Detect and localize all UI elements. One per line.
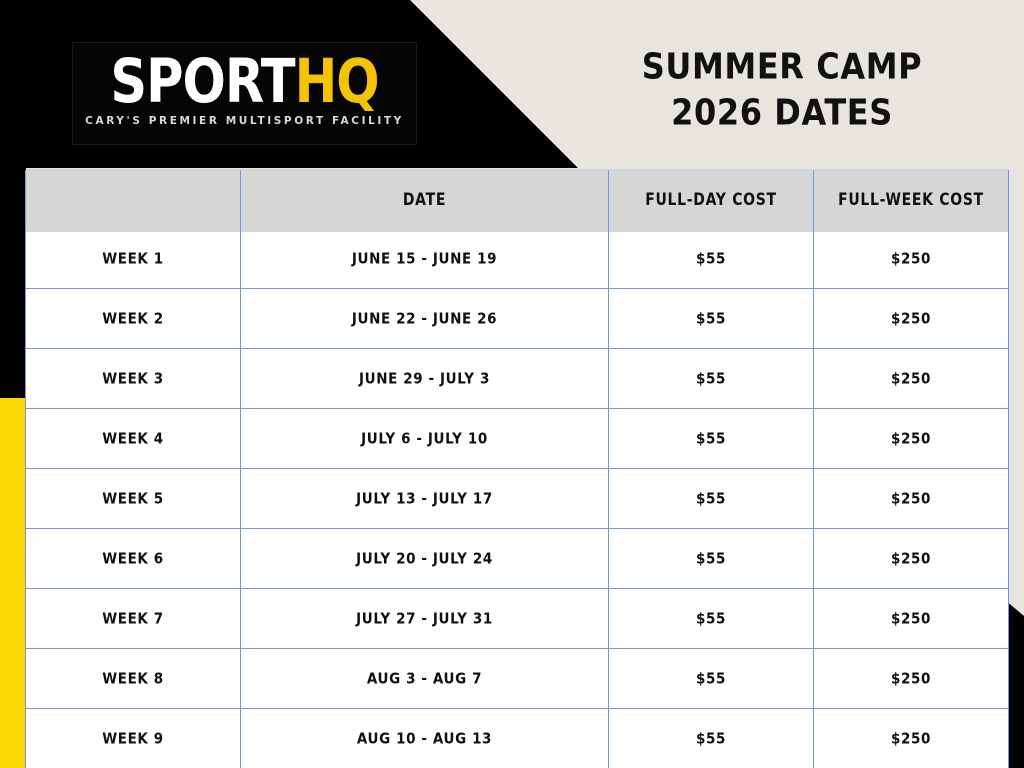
- full-week-cell: $250: [814, 349, 1009, 409]
- full-day-cell: $55: [609, 589, 814, 649]
- logo-hq-text: HQ: [295, 47, 379, 117]
- week-cell: WEEK 2: [26, 289, 241, 349]
- table-body: WEEK 1JUNE 15 - JUNE 19$55$250WEEK 2JUNE…: [26, 229, 1009, 768]
- full-week-cell: $250: [814, 409, 1009, 469]
- logo-wordmark: SPORTHQ: [110, 55, 378, 110]
- date-cell: JULY 20 - JULY 24: [241, 529, 609, 589]
- page-title-line-1: SUMMER CAMP: [572, 44, 992, 90]
- week-cell: WEEK 6: [26, 529, 241, 589]
- week-cell: WEEK 1: [26, 229, 241, 289]
- logo-tagline: CARY'S PREMIER MULTISPORT FACILITY: [85, 115, 404, 127]
- table-row: WEEK 3JUNE 29 - JULY 3$55$250: [26, 349, 1009, 409]
- full-day-cell: $55: [609, 349, 814, 409]
- yellow-bar-left: [0, 398, 26, 745]
- full-day-cell: $55: [609, 469, 814, 529]
- table-row: WEEK 2JUNE 22 - JUNE 26$55$250: [26, 289, 1009, 349]
- logo-sport-text: SPORT: [110, 47, 294, 117]
- schedule-table-container: DATE FULL-DAY COST FULL-WEEK COST WEEK 1…: [25, 170, 1004, 768]
- date-cell: JULY 6 - JULY 10: [241, 409, 609, 469]
- full-week-cell: $250: [814, 709, 1009, 768]
- table-row: WEEK 5JULY 13 - JULY 17$55$250: [26, 469, 1009, 529]
- table-row: WEEK 1JUNE 15 - JUNE 19$55$250: [26, 229, 1009, 289]
- date-cell: JUNE 29 - JULY 3: [241, 349, 609, 409]
- full-week-cell: $250: [814, 289, 1009, 349]
- date-cell: AUG 3 - AUG 7: [241, 649, 609, 709]
- full-day-cell: $55: [609, 229, 814, 289]
- black-bar-left: [0, 168, 26, 420]
- week-cell: WEEK 7: [26, 589, 241, 649]
- page-title-line-2: 2026 DATES: [572, 90, 992, 136]
- week-cell: WEEK 5: [26, 469, 241, 529]
- page-header: SPORTHQ CARY'S PREMIER MULTISPORT FACILI…: [0, 0, 1024, 170]
- column-header-week: [26, 168, 241, 232]
- table-header: DATE FULL-DAY COST FULL-WEEK COST: [26, 171, 1009, 229]
- week-cell: WEEK 8: [26, 649, 241, 709]
- date-cell: JUNE 22 - JUNE 26: [241, 289, 609, 349]
- full-day-cell: $55: [609, 529, 814, 589]
- table-row: WEEK 4JULY 6 - JULY 10$55$250: [26, 409, 1009, 469]
- date-cell: JULY 27 - JULY 31: [241, 589, 609, 649]
- full-week-cell: $250: [814, 589, 1009, 649]
- page-title: SUMMER CAMP 2026 DATES: [572, 44, 992, 136]
- full-week-cell: $250: [814, 229, 1009, 289]
- date-cell: JULY 13 - JULY 17: [241, 469, 609, 529]
- full-day-cell: $55: [609, 649, 814, 709]
- table-row: WEEK 8AUG 3 - AUG 7$55$250: [26, 649, 1009, 709]
- table-header-row: DATE FULL-DAY COST FULL-WEEK COST: [26, 171, 1009, 229]
- week-cell: WEEK 9: [26, 709, 241, 768]
- full-week-cell: $250: [814, 469, 1009, 529]
- full-day-cell: $55: [609, 709, 814, 768]
- date-cell: AUG 10 - AUG 13: [241, 709, 609, 768]
- column-header-full-day-cost: FULL-DAY COST: [609, 168, 814, 232]
- week-cell: WEEK 4: [26, 409, 241, 469]
- full-day-cell: $55: [609, 289, 814, 349]
- full-day-cell: $55: [609, 409, 814, 469]
- camp-schedule-table: DATE FULL-DAY COST FULL-WEEK COST WEEK 1…: [25, 170, 1009, 768]
- table-row: WEEK 6JULY 20 - JULY 24$55$250: [26, 529, 1009, 589]
- column-header-full-week-cost: FULL-WEEK COST: [814, 168, 1009, 232]
- week-cell: WEEK 3: [26, 349, 241, 409]
- full-week-cell: $250: [814, 649, 1009, 709]
- brand-logo: SPORTHQ CARY'S PREMIER MULTISPORT FACILI…: [72, 42, 417, 145]
- date-cell: JUNE 15 - JUNE 19: [241, 229, 609, 289]
- table-row: WEEK 9AUG 10 - AUG 13$55$250: [26, 709, 1009, 768]
- column-header-date: DATE: [241, 168, 609, 232]
- full-week-cell: $250: [814, 529, 1009, 589]
- table-row: WEEK 7JULY 27 - JULY 31$55$250: [26, 589, 1009, 649]
